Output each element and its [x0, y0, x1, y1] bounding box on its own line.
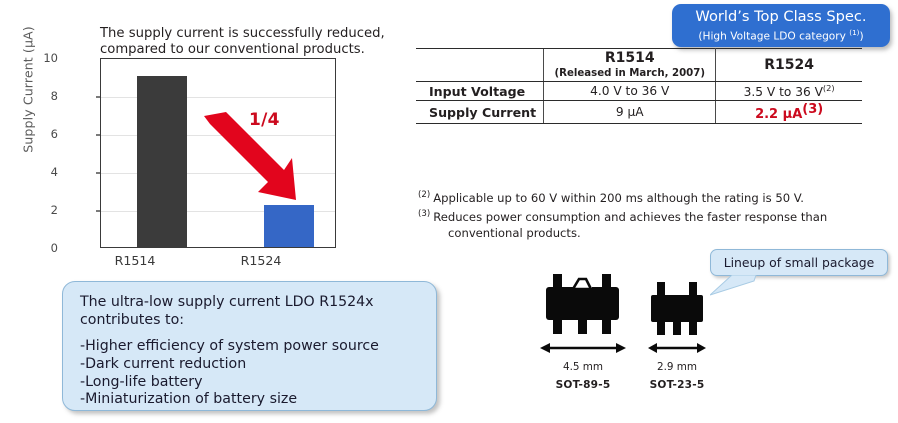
footnote-2: (2)Applicable up to 60 V within 200 ms a…	[418, 188, 838, 206]
badge-subtitle-text: (High Voltage LDO category	[698, 31, 849, 43]
info-box-bullet-2: -Long-life battery	[80, 374, 420, 392]
info-box-bullet-3: -Miniaturization of battery size	[80, 391, 420, 409]
spec-table-element: R1514 (Released in March, 2007) R1524 In…	[416, 48, 862, 124]
y-tick-0: 0	[18, 241, 58, 255]
x-tick-r1514: R1514	[90, 253, 180, 268]
sot-89-5-dimension-arrow-icon	[540, 341, 626, 355]
cell-input-voltage-r1524-value: 3.5 V to 36 V	[744, 85, 823, 99]
header-cell-blank	[416, 49, 544, 82]
badge-subtitle: (High Voltage LDO category (1))	[672, 26, 890, 44]
callout-tail-icon	[710, 275, 770, 297]
y-tick-8: 8	[18, 89, 58, 103]
y-tick-2: 2	[18, 203, 58, 217]
sot-23-5-dimension-label: 2.9 mm	[648, 361, 706, 373]
lineup-callout-bubble: Lineup of small package	[710, 249, 888, 276]
table-header-row: R1514 (Released in March, 2007) R1524	[416, 49, 862, 82]
ratio-annotation-label: 1/4	[249, 110, 280, 130]
footnote-3-continuation: conventional products.	[440, 226, 838, 242]
footnote-2-text: Applicable up to 60 V within 200 ms alth…	[433, 191, 804, 205]
cell-supply-current-r1524-superscript: (3)	[802, 102, 823, 117]
benefits-info-box: The ultra-low supply current LDO R1524x …	[62, 281, 437, 411]
footnote-3-text: Reduces power consumption and achieves t…	[433, 210, 827, 224]
y-tick-4: 4	[18, 165, 58, 179]
cell-supply-current-r1514: 9 µA	[544, 101, 716, 124]
table-row: Supply Current 9 µA 2.2 µA(3)	[416, 101, 862, 124]
badge-title: World’s Top Class Spec.	[672, 8, 890, 26]
cell-supply-current-r1524-value: 2.2 µA	[755, 107, 802, 122]
x-tick-r1524: R1524	[216, 253, 306, 268]
sot-89-5-dimension-label: 4.5 mm	[540, 361, 626, 373]
badge-subtitle-superscript: (1)	[849, 28, 859, 37]
footnote-3-mark: (3)	[418, 209, 430, 219]
footnote-2-mark: (2)	[418, 190, 430, 200]
header-r1514-name: R1514	[548, 50, 711, 67]
sot-23-5-name-label: SOT-23-5	[648, 379, 706, 391]
cell-input-voltage-r1524: 3.5 V to 36 V(2)	[716, 82, 862, 101]
chart-caption: The supply current is successfully reduc…	[100, 26, 390, 57]
cell-supply-current-r1524: 2.2 µA(3)	[716, 101, 862, 124]
info-box-lead-line2: contributes to:	[80, 312, 420, 330]
chart-caption-line1: The supply current is successfully reduc…	[100, 26, 390, 42]
package-sot-23-5: 2.9 mm SOT-23-5	[648, 282, 706, 391]
info-box-bullets: -Higher efficiency of system power sourc…	[80, 338, 420, 409]
lineup-callout-label: Lineup of small package	[724, 255, 875, 270]
info-box-bullet-0: -Higher efficiency of system power sourc…	[80, 338, 420, 356]
header-r1514-sub: (Released in March, 2007)	[548, 67, 711, 80]
info-box-lead-line1: The ultra-low supply current LDO R1524x	[80, 294, 420, 312]
world-top-class-spec-badge: World’s Top Class Spec. (High Voltage LD…	[672, 4, 890, 47]
package-lineup-area: Lineup of small package 4.5 mm S	[520, 262, 898, 402]
row-label-input-voltage: Input Voltage	[416, 82, 544, 101]
footnote-3: (3)Reduces power consumption and achieve…	[418, 207, 838, 241]
sot-89-5-name-label: SOT-89-5	[540, 379, 626, 391]
row-label-supply-current: Supply Current	[416, 101, 544, 124]
y-tick-10: 10	[18, 51, 58, 65]
bar-r1524	[264, 205, 314, 247]
cell-input-voltage-r1524-superscript: (2)	[823, 83, 835, 93]
badge-subtitle-close: )	[859, 31, 863, 43]
supply-current-bar-chart: The supply current is successfully reduc…	[0, 0, 400, 280]
header-r1524-name: R1524	[720, 57, 858, 74]
sot-23-5-dimension-arrow-icon	[648, 341, 706, 355]
header-cell-r1524: R1524	[716, 49, 862, 82]
footnotes-list: (2)Applicable up to 60 V within 200 ms a…	[418, 188, 838, 242]
chart-caption-line2: compared to our conventional products.	[100, 42, 390, 58]
y-tick-6: 6	[18, 127, 58, 141]
package-sot-89-5: 4.5 mm SOT-89-5	[540, 274, 626, 391]
bar-r1514	[137, 76, 187, 247]
sot-23-5-package-icon	[648, 282, 706, 336]
cell-input-voltage-r1514: 4.0 V to 36 V	[544, 82, 716, 101]
header-cell-r1514: R1514 (Released in March, 2007)	[544, 49, 716, 82]
info-box-lead: The ultra-low supply current LDO R1524x …	[80, 294, 420, 329]
sot-89-5-package-icon	[540, 274, 626, 336]
table-row: Input Voltage 4.0 V to 36 V 3.5 V to 36 …	[416, 82, 862, 101]
specification-table: R1514 (Released in March, 2007) R1524 In…	[416, 48, 862, 124]
info-box-bullet-1: -Dark current reduction	[80, 356, 420, 374]
